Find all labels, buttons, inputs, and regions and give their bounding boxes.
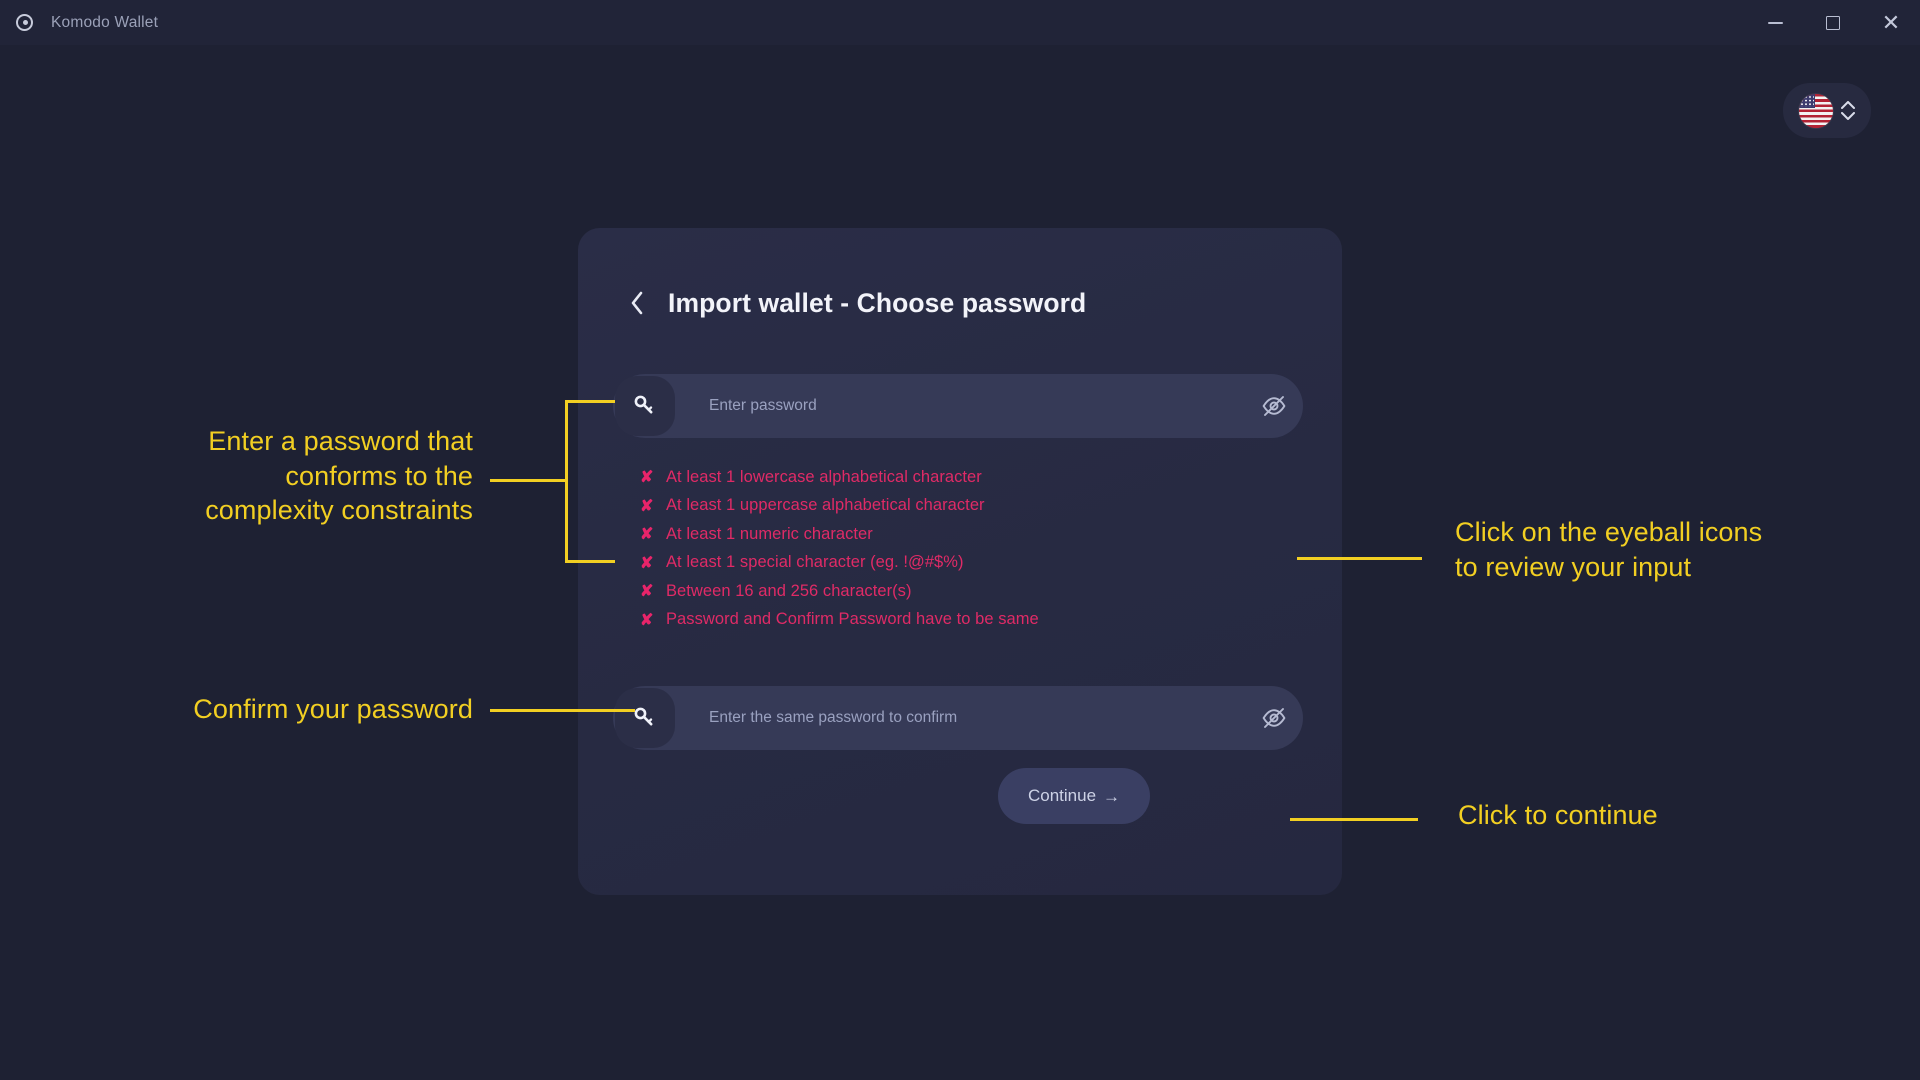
validation-rule-label: At least 1 uppercase alphabetical charac… (666, 496, 985, 515)
validation-rule: ✘ At least 1 uppercase alphabetical char… (640, 492, 1280, 521)
annotation-connector-eyeball (1297, 557, 1422, 560)
cross-icon: ✘ (640, 467, 666, 487)
annotation-connector-bracket-bottom (565, 560, 615, 563)
cross-icon: ✘ (640, 553, 666, 573)
annotation-continue: Click to continue (1458, 798, 1858, 833)
annotation-connector-bracket-top (565, 400, 615, 403)
annotation-eyeball: Click on the eyeball icons to review you… (1455, 515, 1875, 584)
app-title: Komodo Wallet (51, 14, 158, 32)
validation-rule-label: Password and Confirm Password have to be… (666, 610, 1039, 629)
validation-rule: ✘ At least 1 numeric character (640, 520, 1280, 549)
eye-off-icon[interactable] (1245, 374, 1303, 438)
cross-icon: ✘ (640, 524, 666, 544)
chevron-up-down-icon (1841, 101, 1855, 120)
validation-rule: ✘ At least 1 lowercase alphabetical char… (640, 463, 1280, 492)
validation-rule: ✘ At least 1 special character (eg. !@#$… (640, 549, 1280, 578)
continue-button[interactable]: Continue → (998, 768, 1150, 824)
cross-icon: ✘ (640, 610, 666, 630)
language-selector[interactable] (1783, 83, 1871, 138)
window-titlebar: Komodo Wallet ✕ (0, 0, 1920, 45)
annotation-confirm: Confirm your password (95, 692, 473, 727)
validation-rule: ✘ Between 16 and 256 character(s) (640, 577, 1280, 606)
annotation-connector-confirm (490, 709, 635, 712)
annotation-connector-bracket-stem (490, 479, 568, 482)
password-input[interactable] (675, 397, 1245, 415)
validation-rule-label: At least 1 lowercase alphabetical charac… (666, 468, 982, 487)
cross-icon: ✘ (640, 581, 666, 601)
password-field[interactable] (613, 374, 1303, 438)
chevron-left-icon[interactable] (620, 286, 654, 320)
key-icon (615, 376, 675, 436)
komodo-logo-icon (14, 13, 34, 33)
import-wallet-card: Import wallet - Choose password ✘ (578, 228, 1342, 895)
cross-icon: ✘ (640, 496, 666, 516)
annotation-complexity: Enter a password that conforms to the co… (100, 424, 473, 528)
validation-rule-label: Between 16 and 256 character(s) (666, 582, 912, 601)
arrow-right-icon: → (1103, 788, 1120, 805)
confirm-password-input[interactable] (675, 709, 1245, 727)
card-header: Import wallet - Choose password (620, 286, 1086, 320)
validation-rule-label: At least 1 special character (eg. !@#$%) (666, 553, 964, 572)
page-title: Import wallet - Choose password (668, 288, 1086, 319)
us-flag-icon (1799, 94, 1833, 128)
annotation-connector-continue (1290, 818, 1418, 821)
validation-rule-label: At least 1 numeric character (666, 525, 873, 544)
password-validation-list: ✘ At least 1 lowercase alphabetical char… (640, 463, 1280, 634)
confirm-password-field[interactable] (613, 686, 1303, 750)
maximize-icon[interactable] (1804, 0, 1862, 45)
validation-rule: ✘ Password and Confirm Password have to … (640, 606, 1280, 635)
close-icon[interactable]: ✕ (1862, 0, 1920, 45)
minimize-icon[interactable] (1746, 0, 1804, 45)
eye-off-icon[interactable] (1245, 686, 1303, 750)
key-icon (615, 688, 675, 748)
continue-button-label: Continue (1028, 786, 1096, 806)
